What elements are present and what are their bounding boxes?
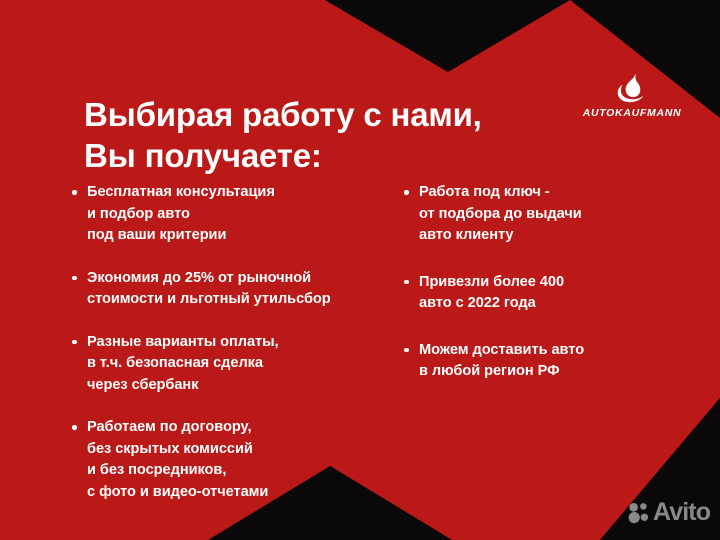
- flame-swoosh-icon: [612, 72, 652, 104]
- benefit-item: Работаем по договору, без скрытых комисс…: [70, 417, 400, 503]
- benefit-item: Экономия до 25% от рыночной стоимости и …: [70, 268, 400, 311]
- benefits-column-right: Работа под ключ - от подбора до выдачи а…: [402, 182, 702, 408]
- benefits-column-left: Бесплатная консультация и подбор авто по…: [70, 182, 400, 524]
- avito-watermark: Avito: [628, 500, 710, 525]
- benefit-item: Разные варианты оплаты, в т.ч. безопасна…: [70, 332, 400, 397]
- brand-wordmark: AUTOKAUFMANN: [578, 107, 686, 119]
- brand-logo: AUTOKAUFMANN: [578, 72, 686, 119]
- benefit-item: Бесплатная консультация и подбор авто по…: [70, 182, 400, 247]
- benefit-item: Работа под ключ - от подбора до выдачи а…: [402, 182, 702, 247]
- benefit-item: Привезли более 400 авто с 2022 года: [402, 272, 702, 315]
- promo-banner: Выбирая работу с нами, Вы получаете: AUT…: [0, 0, 720, 540]
- page-title: Выбирая работу с нами, Вы получаете:: [84, 94, 554, 176]
- avito-label: Avito: [653, 500, 710, 525]
- benefit-item: Можем доставить авто в любой регион РФ: [402, 340, 702, 383]
- avito-dots-icon: [628, 502, 650, 524]
